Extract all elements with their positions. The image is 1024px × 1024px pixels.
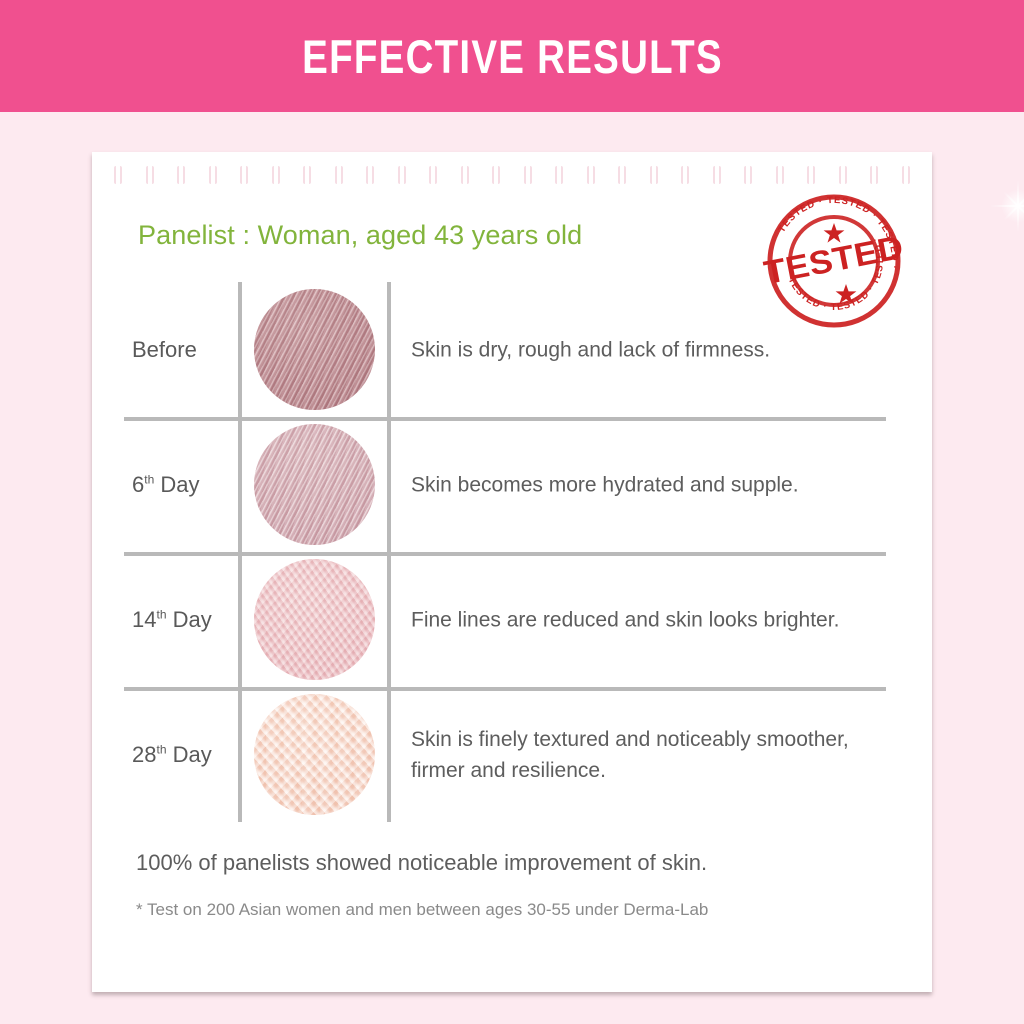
perforation-tick	[650, 166, 658, 184]
skin-swatch-day-28	[254, 694, 375, 815]
table-row: Before Skin is dry, rough and lack of fi…	[128, 282, 896, 417]
results-grid: Before Skin is dry, rough and lack of fi…	[128, 282, 896, 822]
perforation-tick	[461, 166, 469, 184]
skin-swatch-before	[254, 289, 375, 410]
row-label-text: Day	[167, 742, 212, 767]
footer-disclaimer: * Test on 200 Asian women and men betwee…	[136, 900, 708, 920]
perforation-tick	[839, 166, 847, 184]
row-separator	[124, 552, 886, 556]
footer-summary: 100% of panelists showed noticeable impr…	[136, 850, 707, 876]
perforation-tick	[776, 166, 784, 184]
row-label-number: 6	[132, 472, 144, 497]
row-description: Fine lines are reduced and skin looks br…	[411, 604, 881, 635]
results-card: Panelist : Woman, aged 43 years old TEST…	[92, 152, 932, 992]
row-label-suffix: th	[156, 742, 166, 756]
row-label: 28th Day	[132, 742, 238, 768]
perforation-tick	[587, 166, 595, 184]
row-description: Skin is finely textured and noticeably s…	[411, 724, 881, 786]
perforation-tick	[272, 166, 280, 184]
row-separator	[124, 417, 886, 421]
row-description: Skin becomes more hydrated and supple.	[411, 469, 881, 500]
page-root: EFFECTIVE RESULTS	[0, 0, 1024, 1024]
skin-swatch-day-6	[254, 424, 375, 545]
skin-swatch-day-14	[254, 559, 375, 680]
header-banner: EFFECTIVE RESULTS	[0, 0, 1024, 112]
row-label-text: Day	[167, 607, 212, 632]
row-label-number: 14	[132, 607, 156, 632]
row-label-text: Before	[132, 337, 197, 362]
perforation-tick	[555, 166, 563, 184]
perforation-tick	[713, 166, 721, 184]
perforation-tick	[335, 166, 343, 184]
perforation-tick	[398, 166, 406, 184]
swatch-cell	[242, 417, 387, 552]
sparkle-icon	[990, 178, 1024, 234]
perforation-tick	[177, 166, 185, 184]
row-label: 6th Day	[132, 472, 238, 498]
perforation-tick	[870, 166, 878, 184]
row-label-number: 28	[132, 742, 156, 767]
swatch-cell	[242, 282, 387, 417]
perforation-tick	[807, 166, 815, 184]
perforation-tick	[492, 166, 500, 184]
perforation-tick	[618, 166, 626, 184]
notepad-perforations	[92, 166, 932, 184]
page-title: EFFECTIVE RESULTS	[302, 29, 723, 84]
perforation-tick	[209, 166, 217, 184]
row-separator	[124, 687, 886, 691]
perforation-tick	[902, 166, 910, 184]
swatch-cell	[242, 552, 387, 687]
panelist-heading: Panelist : Woman, aged 43 years old	[138, 220, 582, 251]
table-row: 28th Day Skin is finely textured and not…	[128, 687, 896, 822]
row-label-suffix: th	[156, 607, 166, 621]
perforation-tick	[366, 166, 374, 184]
perforation-tick	[524, 166, 532, 184]
perforation-tick	[744, 166, 752, 184]
perforation-tick	[681, 166, 689, 184]
row-label: Before	[132, 337, 238, 363]
perforation-tick	[303, 166, 311, 184]
row-description: Skin is dry, rough and lack of firmness.	[411, 334, 881, 365]
perforation-tick	[114, 166, 122, 184]
row-label-text: Day	[154, 472, 199, 497]
row-label-suffix: th	[144, 472, 154, 486]
row-label: 14th Day	[132, 607, 238, 633]
perforation-tick	[429, 166, 437, 184]
swatch-cell	[242, 687, 387, 822]
perforation-tick	[146, 166, 154, 184]
table-row: 14th Day Fine lines are reduced and skin…	[128, 552, 896, 687]
perforation-tick	[240, 166, 248, 184]
table-row: 6th Day Skin becomes more hydrated and s…	[128, 417, 896, 552]
